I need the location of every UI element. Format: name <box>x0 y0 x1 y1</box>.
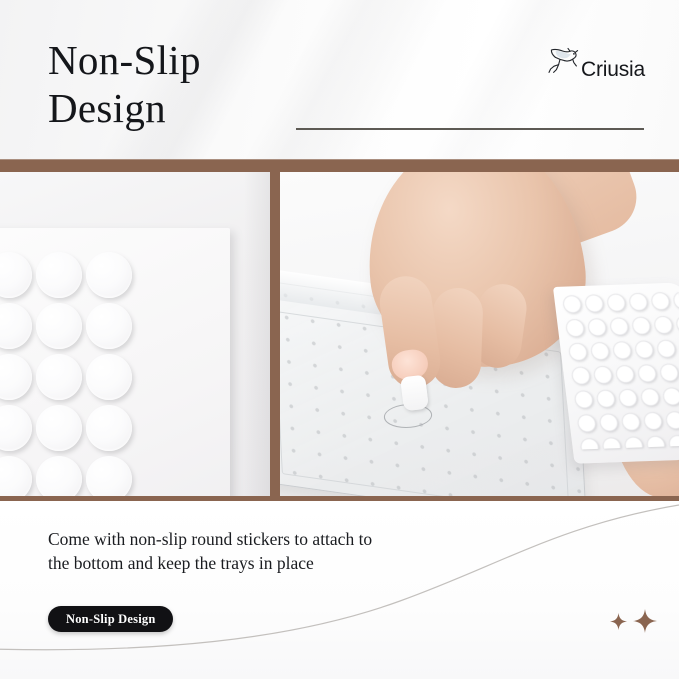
sparkle-icon <box>633 609 657 633</box>
status-badge[interactable]: Non-Slip Design <box>48 606 173 632</box>
photo-frame: Non-Slip <box>0 159 679 501</box>
page-title: Non-Slip Design <box>48 36 201 132</box>
photo-edge-shading <box>244 172 270 496</box>
header-divider-rule <box>296 128 644 130</box>
brand-logo: Criusia <box>546 45 645 80</box>
product-infographic: Non-Slip Design <box>0 0 679 679</box>
sparkle-icon <box>610 613 627 630</box>
caption-text: Come with non-slip round stickers to att… <box>48 527 428 575</box>
applying-sticker-photo <box>280 172 679 496</box>
header-band: Non-Slip Design <box>0 0 679 160</box>
held-sticker-sheet <box>553 282 679 463</box>
bottom-band: Come with non-slip round stickers to att… <box>0 501 679 679</box>
sticker-sheet-photo <box>0 172 270 496</box>
brand-name: Criusia <box>581 59 645 80</box>
sparkle-decoration <box>610 609 657 633</box>
sticker-sheet-dots <box>560 289 679 450</box>
sticker-sheet <box>0 228 230 496</box>
finger <box>430 287 483 389</box>
held-sticker <box>400 375 429 412</box>
kangaroo-icon <box>546 45 580 80</box>
